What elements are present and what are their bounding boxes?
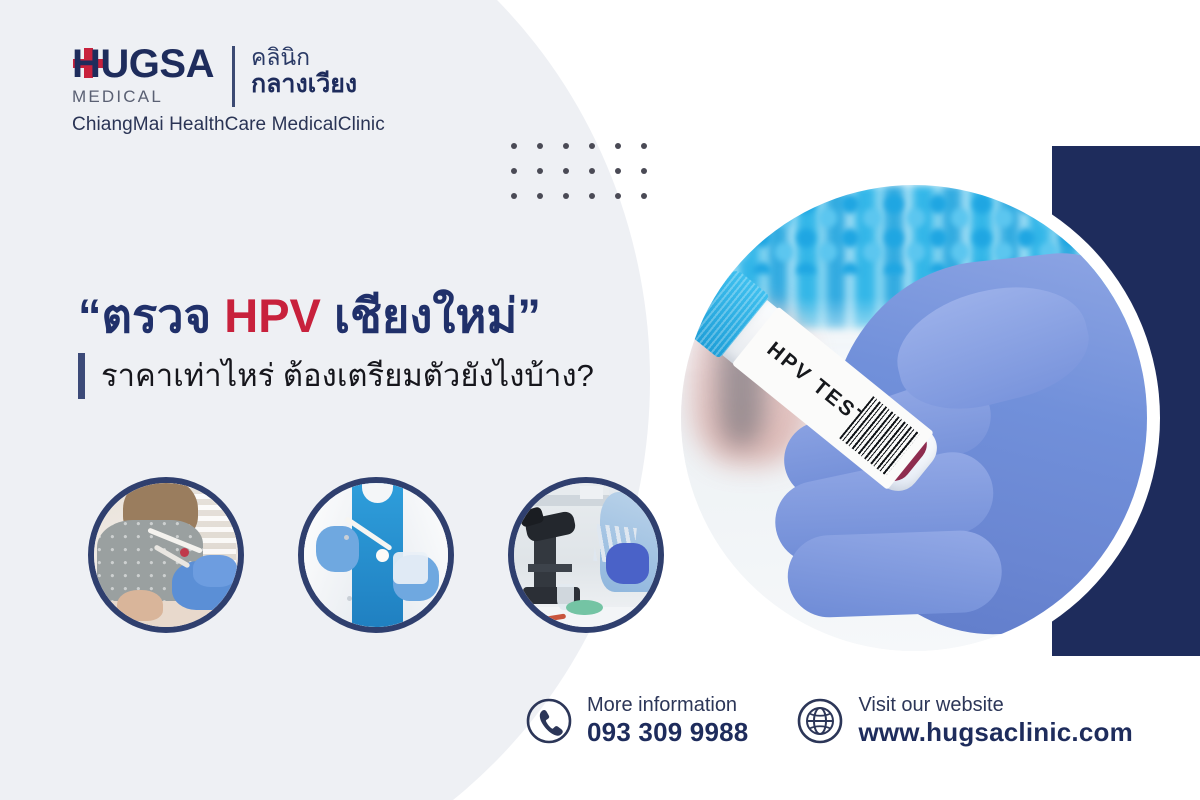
decor-dot: [641, 143, 647, 149]
decor-dot: [563, 193, 569, 199]
hpv-promo-banner: HUGSA MEDICAL คลินิก กลางเวียง ChiangMai…: [0, 0, 1200, 800]
logo-wordmark: HUGSA: [72, 44, 214, 84]
thumbnail-patient-consultation-swab[interactable]: [88, 477, 244, 633]
thumbnail-doctor-holding-swab-specimen[interactable]: [298, 477, 454, 633]
decor-dot: [615, 193, 621, 199]
decor-dot: [563, 168, 569, 174]
thumbnail-strip: [88, 477, 664, 633]
thumbnail-artwork: [304, 483, 448, 627]
decor-dot: [537, 193, 543, 199]
footer-contacts: More information 093 309 9988 Visit our …: [525, 694, 1133, 748]
decor-dot: [563, 143, 569, 149]
contact-website-label: Visit our website: [858, 694, 1132, 717]
decor-dot: [641, 168, 647, 174]
contact-phone-number: 093 309 9988: [587, 717, 748, 748]
decor-dot: [537, 143, 543, 149]
decor-dot: [641, 193, 647, 199]
dot-grid-decoration: [511, 143, 667, 218]
accent-bar: [78, 353, 85, 399]
logo-row: HUGSA MEDICAL คลินิก กลางเวียง: [72, 44, 385, 107]
contact-phone[interactable]: More information 093 309 9988: [525, 694, 748, 748]
headline-part-1: ตรวจ: [102, 289, 225, 342]
headline-block: “ตรวจ HPV เชียงใหม่” ราคาเท่าไหร่ ต้องเต…: [78, 288, 698, 399]
decor-dot: [615, 143, 621, 149]
headline-open-quote: “: [78, 289, 102, 342]
hero-image-hpv-test: HPV TEST: [681, 185, 1147, 651]
thumbnail-artwork: [94, 483, 238, 627]
subheadline-row: ราคาเท่าไหร่ ต้องเตรียมตัวยังไงบ้าง?: [78, 353, 698, 399]
page-subtitle: ราคาเท่าไหร่ ต้องเตรียมตัวยังไงบ้าง?: [101, 357, 594, 396]
headline-close-quote: ”: [517, 289, 541, 342]
logo-primary: HUGSA MEDICAL: [72, 44, 214, 107]
headline-part-2: เชียงใหม่: [321, 289, 517, 342]
logo-divider: [232, 46, 235, 107]
decor-dot: [589, 168, 595, 174]
decor-dot: [615, 168, 621, 174]
clinic-name-thai: คลินิก กลางเวียง: [251, 44, 357, 99]
page-title: “ตรวจ HPV เชียงใหม่”: [78, 288, 698, 343]
clinic-name-line-1: คลินิก: [251, 44, 357, 70]
decor-dot: [589, 143, 595, 149]
clinic-name-line-2: กลางเวียง: [251, 70, 357, 99]
contact-website-text: Visit our website www.hugsaclinic.com: [858, 694, 1132, 748]
thumbnail-lab-microscope-analysis[interactable]: [508, 477, 664, 633]
phone-icon: [525, 697, 573, 745]
headline-highlight-hpv: HPV: [224, 289, 321, 342]
brand-tagline: ChiangMai HealthCare MedicalClinic: [72, 114, 385, 136]
logo-wordmark-text: HUGSA: [72, 42, 214, 86]
logo-subword: MEDICAL: [72, 87, 214, 107]
decor-dot: [511, 143, 517, 149]
globe-icon: [796, 697, 844, 745]
thumbnail-artwork: [514, 483, 658, 627]
contact-phone-text: More information 093 309 9988: [587, 694, 748, 748]
contact-phone-label: More information: [587, 694, 748, 717]
brand-logo: HUGSA MEDICAL คลินิก กลางเวียง ChiangMai…: [72, 44, 385, 136]
contact-website-url: www.hugsaclinic.com: [858, 717, 1132, 748]
decor-dot: [511, 193, 517, 199]
hero-image-ring: HPV TEST: [668, 172, 1160, 664]
contact-website[interactable]: Visit our website www.hugsaclinic.com: [796, 694, 1132, 748]
decor-dot: [511, 168, 517, 174]
decor-dot: [537, 168, 543, 174]
decor-dot: [589, 193, 595, 199]
